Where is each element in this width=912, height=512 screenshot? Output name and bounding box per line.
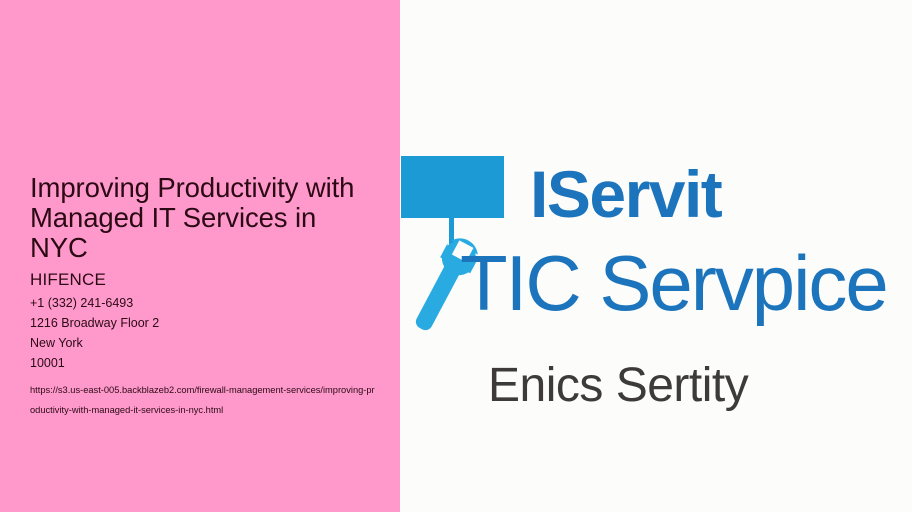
contact-street: 1216 Broadway Floor 2 (30, 313, 378, 333)
logo-secondary-text: TIC Servpice (460, 242, 887, 324)
brand-name: HIFENCE (30, 269, 378, 290)
source-url[interactable]: https://s3.us-east-005.backblazeb2.com/f… (30, 380, 375, 420)
logo-primary-text: IServit (530, 161, 721, 227)
logo-tagline-text: Enics Sertity (488, 358, 748, 414)
slide-root: Improving Productivity with Managed IT S… (0, 0, 912, 512)
right-image-panel: IServit TIC Servpice Enics Sertity (400, 0, 912, 512)
cloud-shape (401, 156, 504, 218)
contact-postal-code: 10001 (30, 353, 378, 373)
logo-artwork: IServit TIC Servpice Enics Sertity (400, 0, 912, 512)
left-info-panel: Improving Productivity with Managed IT S… (0, 0, 400, 512)
left-content-block: Improving Productivity with Managed IT S… (30, 173, 378, 420)
contact-details: +1 (332) 241-6493 1216 Broadway Floor 2 … (30, 293, 378, 373)
contact-city: New York (30, 333, 378, 353)
contact-phone: +1 (332) 241-6493 (30, 293, 378, 313)
page-title: Improving Productivity with Managed IT S… (30, 173, 360, 263)
